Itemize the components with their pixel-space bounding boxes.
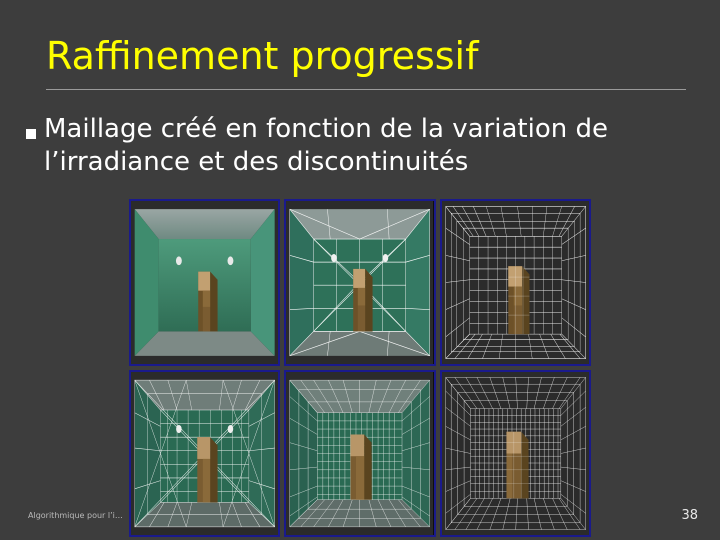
bullet-item-label: Maillage créé en fonction de la variatio… [44,113,694,179]
title-divider [46,89,686,90]
image-cell-cornell-box-mesh-coarse [284,199,435,366]
image-cell-cornell-box-mesh-dense [284,370,435,537]
page-number: 38 [681,508,698,523]
cornell-box-mesh-coarse-graphic [286,201,433,364]
slide: Raffinement progressif Maillage créé en … [0,0,720,540]
cornell-box-wireframe-fine-graphic [442,201,589,364]
image-cell-cornell-box-shaded-coarse [129,199,280,366]
image-cell-cornell-box-mesh-medium [129,370,280,537]
bullet-square-icon [26,129,36,139]
image-cell-cornell-box-wireframe-fine [440,199,591,366]
cornell-box-shaded-coarse-graphic [131,201,278,364]
footer-text: Algorithmique pour l’i… [28,511,123,520]
cornell-box-mesh-medium-graphic [131,372,278,535]
image-grid [129,199,591,537]
cornell-box-mesh-dense-graphic [286,372,433,535]
cornell-box-wireframe-dense-graphic [442,372,589,535]
page-title: Raffinement progressif [46,34,479,78]
image-cell-cornell-box-wireframe-dense [440,370,591,537]
